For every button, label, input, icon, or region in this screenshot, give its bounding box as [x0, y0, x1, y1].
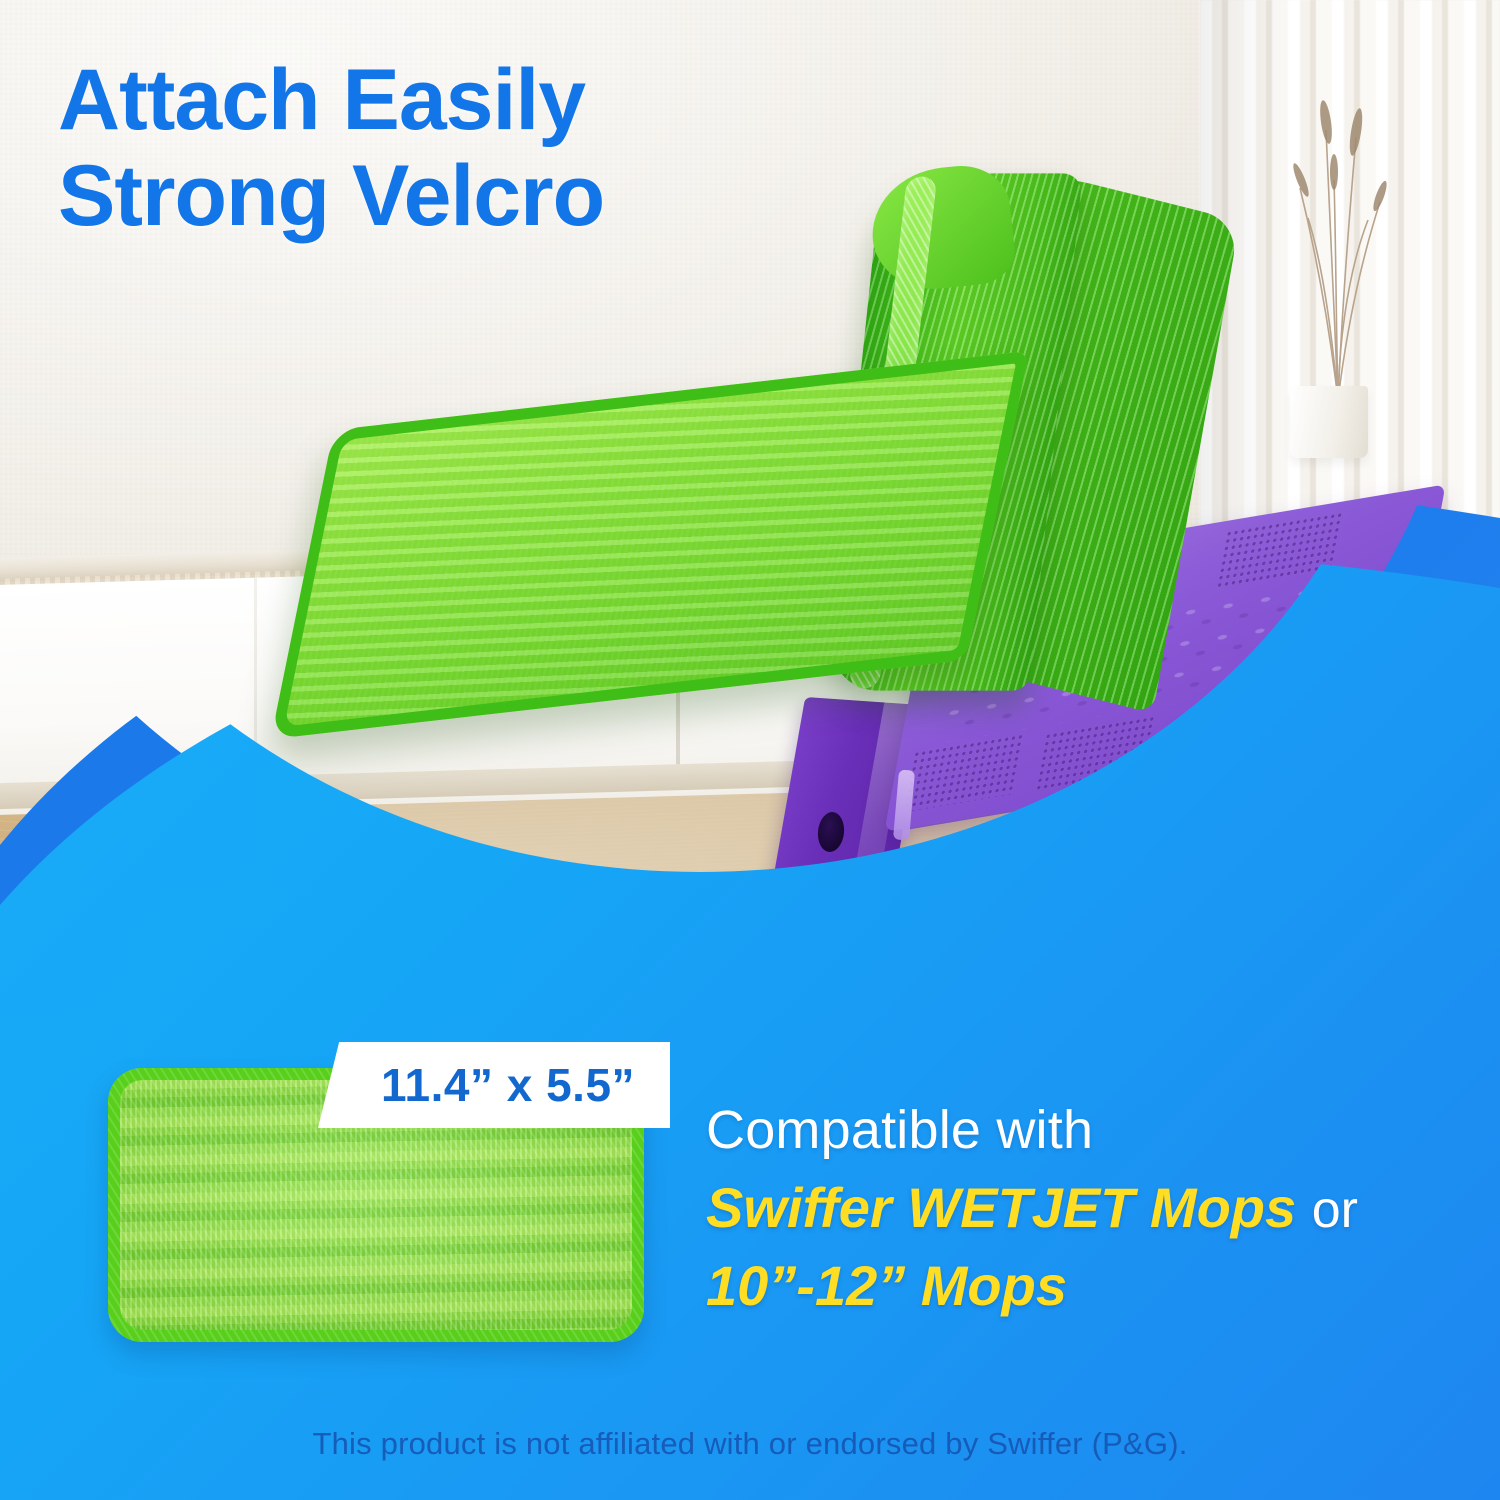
- size-badge: 11.4” x 5.5”: [318, 1042, 670, 1128]
- compatibility-block: Compatible with Swiffer WETJET Mops or 1…: [706, 1098, 1446, 1321]
- disclaimer: This product is not affiliated with or e…: [0, 1426, 1500, 1462]
- compatibility-line-1: Compatible with: [706, 1098, 1446, 1164]
- size-badge-label: 11.4” x 5.5”: [353, 1058, 635, 1112]
- compatibility-highlight-swiffer: Swiffer WETJET Mops: [706, 1176, 1296, 1239]
- compatibility-line-3: 10”-12” Mops: [706, 1252, 1446, 1320]
- headline-line-1: Attach Easily: [58, 52, 585, 148]
- product-infographic: Attach Easily Strong Velcro 11.4” x 5.5”…: [0, 0, 1500, 1500]
- compatibility-line-2: Swiffer WETJET Mops or: [706, 1174, 1446, 1242]
- headline: Attach Easily Strong Velcro: [58, 52, 878, 245]
- compatibility-conjunction: or: [1312, 1181, 1358, 1239]
- headline-line-2: Strong Velcro: [58, 148, 878, 244]
